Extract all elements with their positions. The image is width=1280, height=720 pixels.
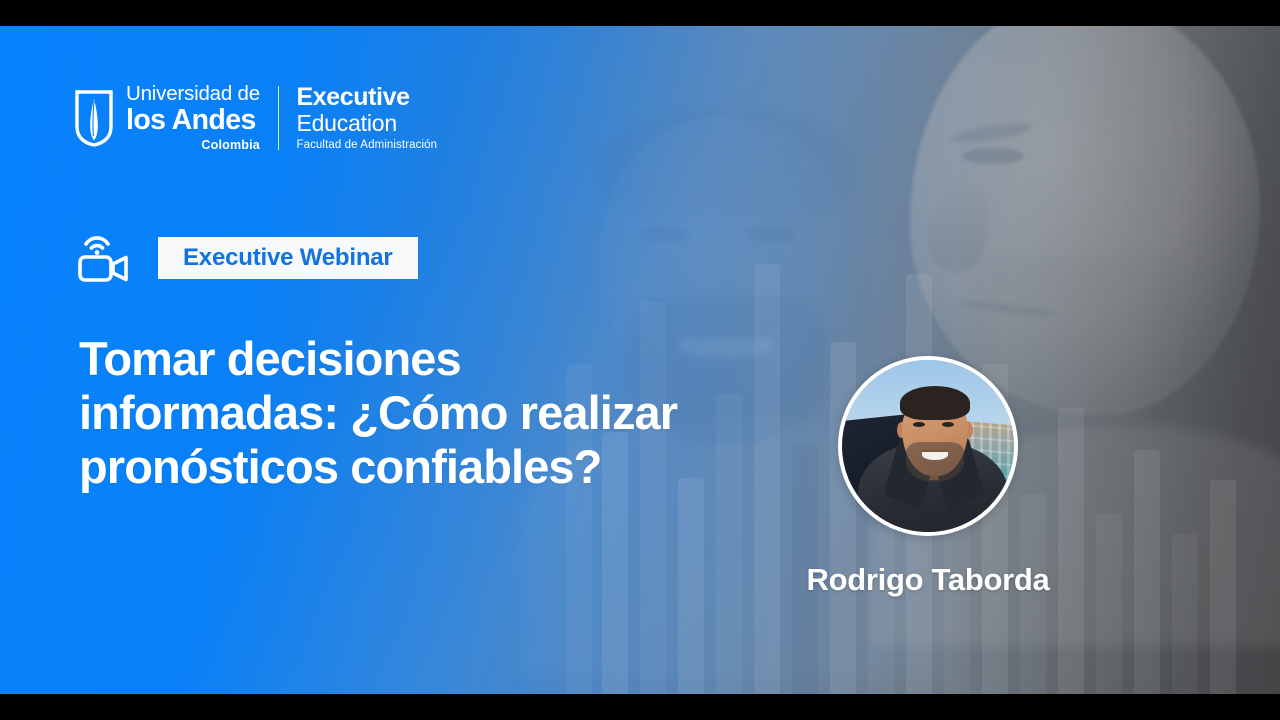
slide-stage: Universidad de los Andes Colombia Execut… [0,0,1280,720]
webinar-badge-row: Executive Webinar [76,232,418,284]
letterbox-top [0,0,1280,26]
speaker-name: Rodrigo Taborda [748,562,1108,598]
video-camera-broadcast-icon [76,232,132,284]
speaker-photo [842,360,1014,532]
university-name: Universidad de los Andes Colombia [126,84,260,152]
webinar-banner: Universidad de los Andes Colombia Execut… [0,26,1280,694]
executive-education-name: Executive Education Facultad de Administ… [296,85,437,152]
unit-line-2: Education [296,112,437,135]
unit-line-1: Executive [296,85,437,110]
university-logo-lockup: Universidad de los Andes Colombia Execut… [74,84,437,152]
university-line-2: los Andes [126,106,260,135]
university-line-1: Universidad de [126,84,260,105]
speaker-block: Rodrigo Taborda [748,356,1108,598]
page-title: Tomar decisiones informadas: ¿Cómo reali… [79,332,719,494]
avatar [838,356,1018,536]
logo-divider [278,86,280,150]
university-country: Colombia [126,139,260,152]
shield-quill-icon [74,89,114,147]
unit-faculty: Facultad de Administración [296,140,437,152]
webinar-badge: Executive Webinar [158,237,418,279]
letterbox-bottom [0,694,1280,720]
